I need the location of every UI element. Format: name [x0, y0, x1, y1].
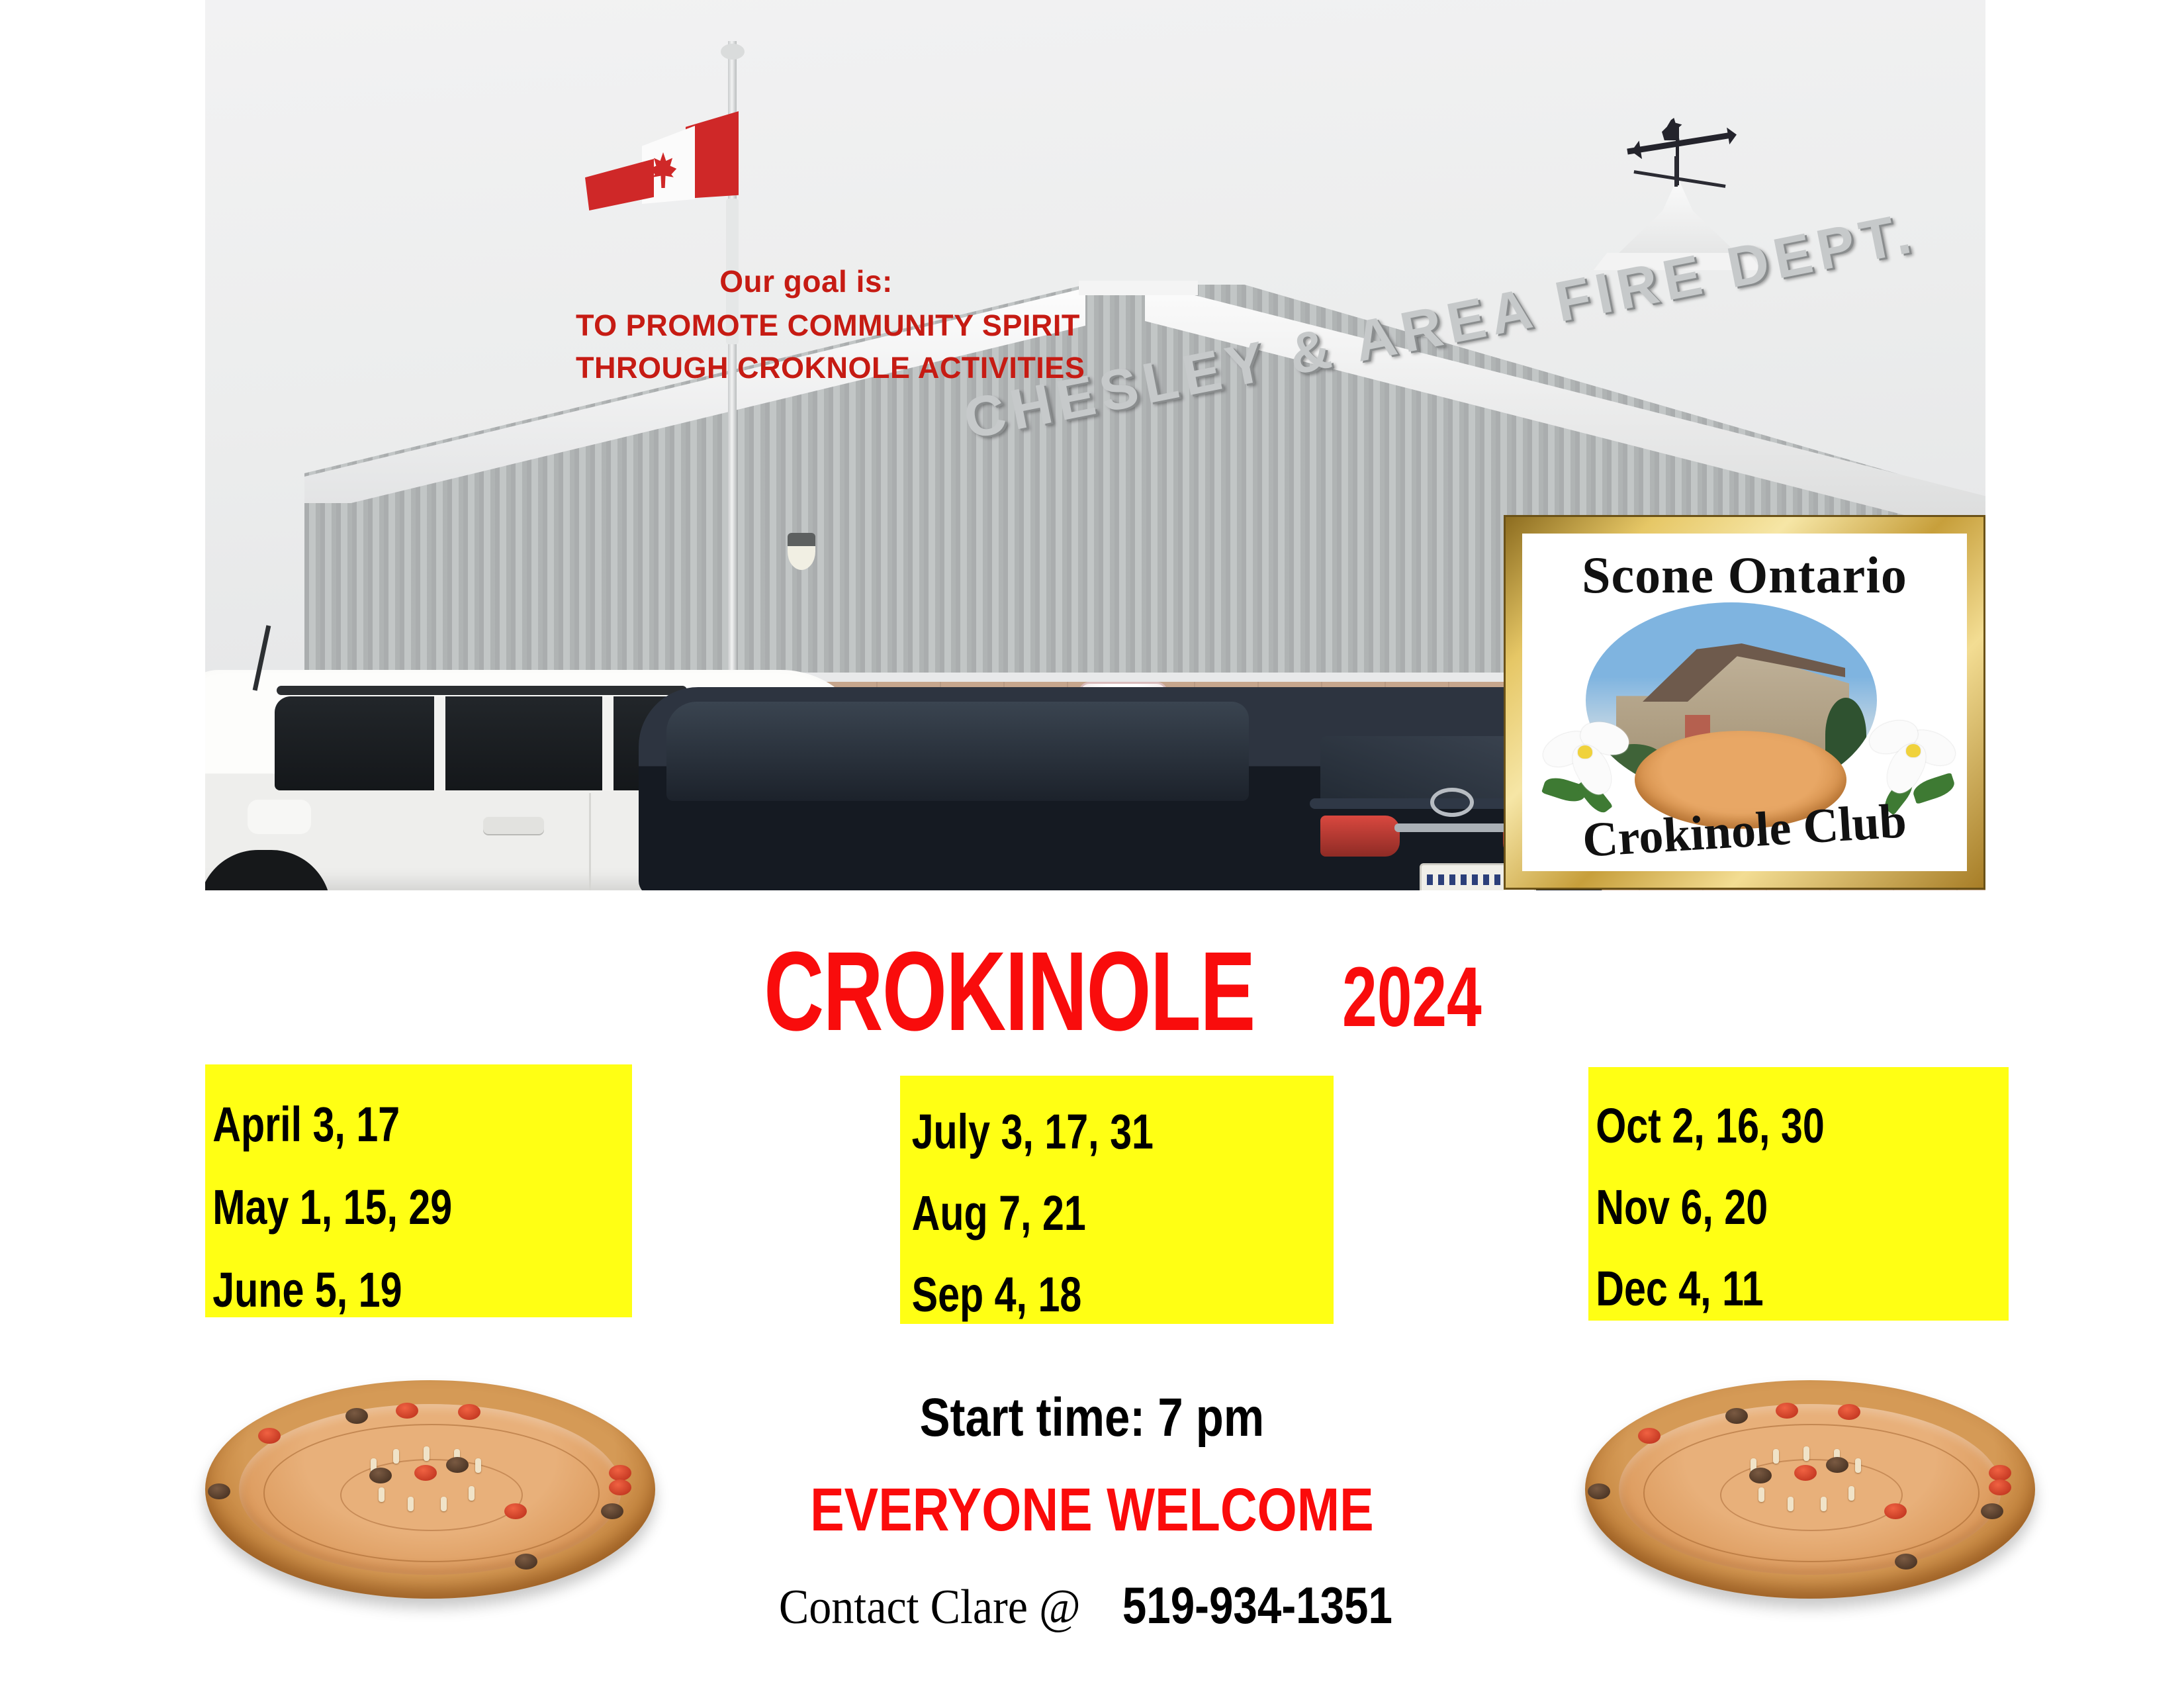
page-title: CROKINOLE 2024: [0, 927, 2184, 1056]
title-crokinole: CROKINOLE: [764, 927, 1255, 1056]
schedule-box-q3: July 3, 17, 31 Aug 7, 21 Sep 4, 18: [900, 1076, 1334, 1324]
flagpole-finial: [721, 44, 745, 60]
schedule-line: Sep 4, 18: [900, 1266, 1247, 1323]
trillium-flower-left-icon: [1539, 719, 1653, 818]
contact-line: Contact Clare @ 519-934-1351: [0, 1575, 2184, 1636]
contact-phone-number: 519-934-1351: [1122, 1575, 1392, 1636]
schedule-line: May 1, 15, 29: [205, 1179, 547, 1235]
schedule-line: June 5, 19: [205, 1262, 547, 1318]
schedule-line: Aug 7, 21: [900, 1185, 1247, 1241]
scone-crokinole-club-logo: Scone Ontario Crokinole Club: [1504, 515, 1985, 890]
event-details: Start time: 7 pm EVERYONE WELCOME Contac…: [0, 1387, 2184, 1636]
slogan-line-1: Our goal is:: [621, 263, 991, 299]
dark-toyota-sedan: [639, 687, 1605, 890]
schedule-line: Oct 2, 16, 30: [1588, 1098, 1925, 1154]
weathervane-post-icon: [1674, 156, 1678, 187]
schedule-line: Nov 6, 20: [1588, 1179, 1925, 1235]
slogan-line-3: THROUGH CROKNOLE ACTIVITIES: [576, 351, 1238, 385]
contact-prefix-text: Contact Clare @: [779, 1579, 1081, 1636]
canadian-flag-icon: [585, 111, 739, 208]
start-time-text: Start time: 7 pm: [920, 1387, 1265, 1449]
schedule-line: July 3, 17, 31: [900, 1103, 1247, 1160]
logo-top-text: Scone Ontario: [1522, 545, 1967, 605]
everyone-welcome-text: EVERYONE WELCOME: [810, 1476, 1374, 1545]
wall-light-fixture: [788, 533, 815, 570]
schedule-line: April 3, 17: [205, 1096, 547, 1152]
goal-slogan: Our goal is: TO PROMOTE COMMUNITY SPIRIT…: [576, 263, 1238, 385]
schedule-line: Dec 4, 11: [1588, 1260, 1925, 1317]
title-year: 2024: [1342, 949, 1482, 1046]
toyota-emblem-icon: [1430, 788, 1474, 817]
schedule-box-q4: Oct 2, 16, 30 Nov 6, 20 Dec 4, 11: [1588, 1067, 2009, 1321]
schedule-box-q2: April 3, 17 May 1, 15, 29 June 5, 19: [205, 1064, 632, 1317]
slogan-line-2: TO PROMOTE COMMUNITY SPIRIT: [576, 308, 1238, 343]
